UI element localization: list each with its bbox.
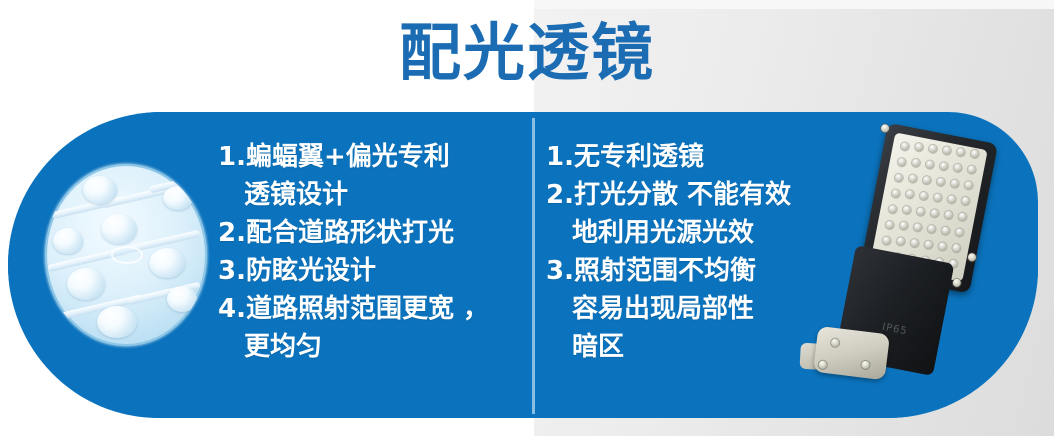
list-item-continuation: 容易出现局部性 — [546, 290, 846, 328]
list-item-text: 道路照射范围更宽 ， — [246, 290, 489, 328]
list-item-text: 防眩光设计 — [246, 252, 376, 290]
lens-plate — [45, 164, 207, 346]
right-feature-list: 1. 无专利透镜 2. 打光分散 不能有效 地利用光源光效 3. 照射范围不均衡… — [546, 138, 846, 366]
list-item: 3. 照射范围不均衡 — [546, 252, 846, 290]
lens-dome — [97, 306, 137, 338]
page-title: 配光透镜 — [0, 18, 1054, 88]
lens-dome — [53, 228, 83, 254]
list-item: 4. 道路照射范围更宽 ， — [218, 290, 518, 328]
list-item-continuation: 地利用光源光效 — [546, 214, 846, 252]
list-item-text: 蝙蝠翼+偏光专利 — [246, 138, 450, 176]
list-item-text: 照射范围不均衡 — [574, 252, 756, 290]
list-item-text: 无专利透镜 — [574, 138, 704, 176]
list-item: 1. 无专利透镜 — [546, 138, 846, 176]
led-street-light-photo: IP65 — [838, 128, 1028, 400]
list-item-continuation: 更均匀 — [218, 328, 518, 366]
list-item-number: 4. — [218, 290, 246, 328]
list-item-text: 配合道路形状打光 — [246, 214, 454, 252]
list-item-number: 3. — [218, 252, 246, 290]
lens-dome — [149, 248, 185, 278]
lens-dome — [167, 286, 197, 312]
lens-dome — [163, 186, 193, 210]
background-right-top-strip — [534, 0, 1054, 9]
list-item-number: 2. — [546, 176, 574, 214]
lens-array-photo — [45, 164, 207, 346]
list-item: 3. 防眩光设计 — [218, 252, 518, 290]
list-item: 2. 打光分散 不能有效 — [546, 176, 846, 214]
list-item-number: 1. — [218, 138, 246, 176]
list-item-number: 3. — [546, 252, 574, 290]
column-divider — [532, 118, 535, 414]
list-item-number: 1. — [546, 138, 574, 176]
lens-center-ring — [111, 246, 143, 264]
list-item-number: 2. — [218, 214, 246, 252]
list-item: 2. 配合道路形状打光 — [218, 214, 518, 252]
list-item-text: 打光分散 不能有效 — [574, 176, 791, 214]
lens-dome — [83, 176, 117, 204]
lamp-group — [814, 112, 1052, 415]
list-item: 1. 蝙蝠翼+偏光专利 — [218, 138, 518, 176]
left-feature-list: 1. 蝙蝠翼+偏光专利 透镜设计 2. 配合道路形状打光 3. 防眩光设计 4.… — [218, 138, 518, 366]
poster-canvas: 配光透镜 — [0, 0, 1054, 436]
lens-dome — [101, 214, 137, 244]
list-item-continuation: 暗区 — [546, 328, 846, 366]
list-item-continuation: 透镜设计 — [218, 176, 518, 214]
lens-dome — [67, 268, 105, 300]
